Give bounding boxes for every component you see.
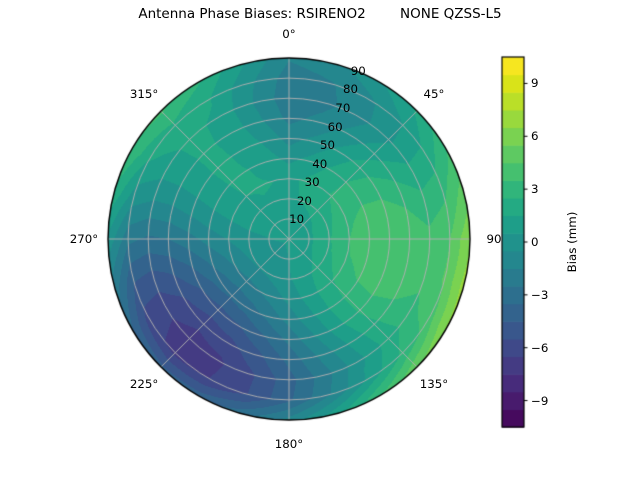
colorbar-tick--6: −6 [531, 341, 548, 355]
angular-tick-45: 45° [423, 87, 444, 101]
radial-tick-50: 50 [320, 138, 335, 152]
radial-tick-70: 70 [335, 101, 350, 115]
angular-tick-225: 225° [130, 377, 158, 391]
angular-tick-180: 180° [275, 437, 303, 451]
colorbar-axis-label: Bias (mm) [565, 212, 579, 273]
angular-tick-315: 315° [130, 87, 158, 101]
angular-tick-135: 135° [420, 377, 448, 391]
page-title: Antenna Phase Biases: RSIRENO2 NONE QZSS… [0, 6, 640, 22]
colorbar-tick--9: −9 [531, 394, 548, 408]
angular-tick-90: 90 [486, 232, 501, 246]
colorbar-tick-6: 6 [531, 129, 539, 143]
radial-tick-60: 60 [328, 120, 343, 134]
angular-tick-0: 0° [282, 27, 295, 41]
radial-tick-80: 80 [343, 82, 358, 96]
angular-tick-270: 270° [70, 232, 98, 246]
radial-tick-30: 30 [305, 175, 320, 189]
figure-canvas-area: Antenna Phase Biases: RSIRENO2 NONE QZSS… [0, 0, 640, 480]
radial-tick-20: 20 [297, 194, 312, 208]
radial-tick-10: 10 [289, 212, 304, 226]
colorbar-tick-0: 0 [531, 235, 539, 249]
colorbar-tick-9: 9 [531, 76, 539, 90]
radial-tick-40: 40 [312, 157, 327, 171]
radial-tick-90: 90 [351, 64, 366, 78]
colorbar-tick-3: 3 [531, 182, 539, 196]
colorbar-tick--3: −3 [531, 288, 548, 302]
